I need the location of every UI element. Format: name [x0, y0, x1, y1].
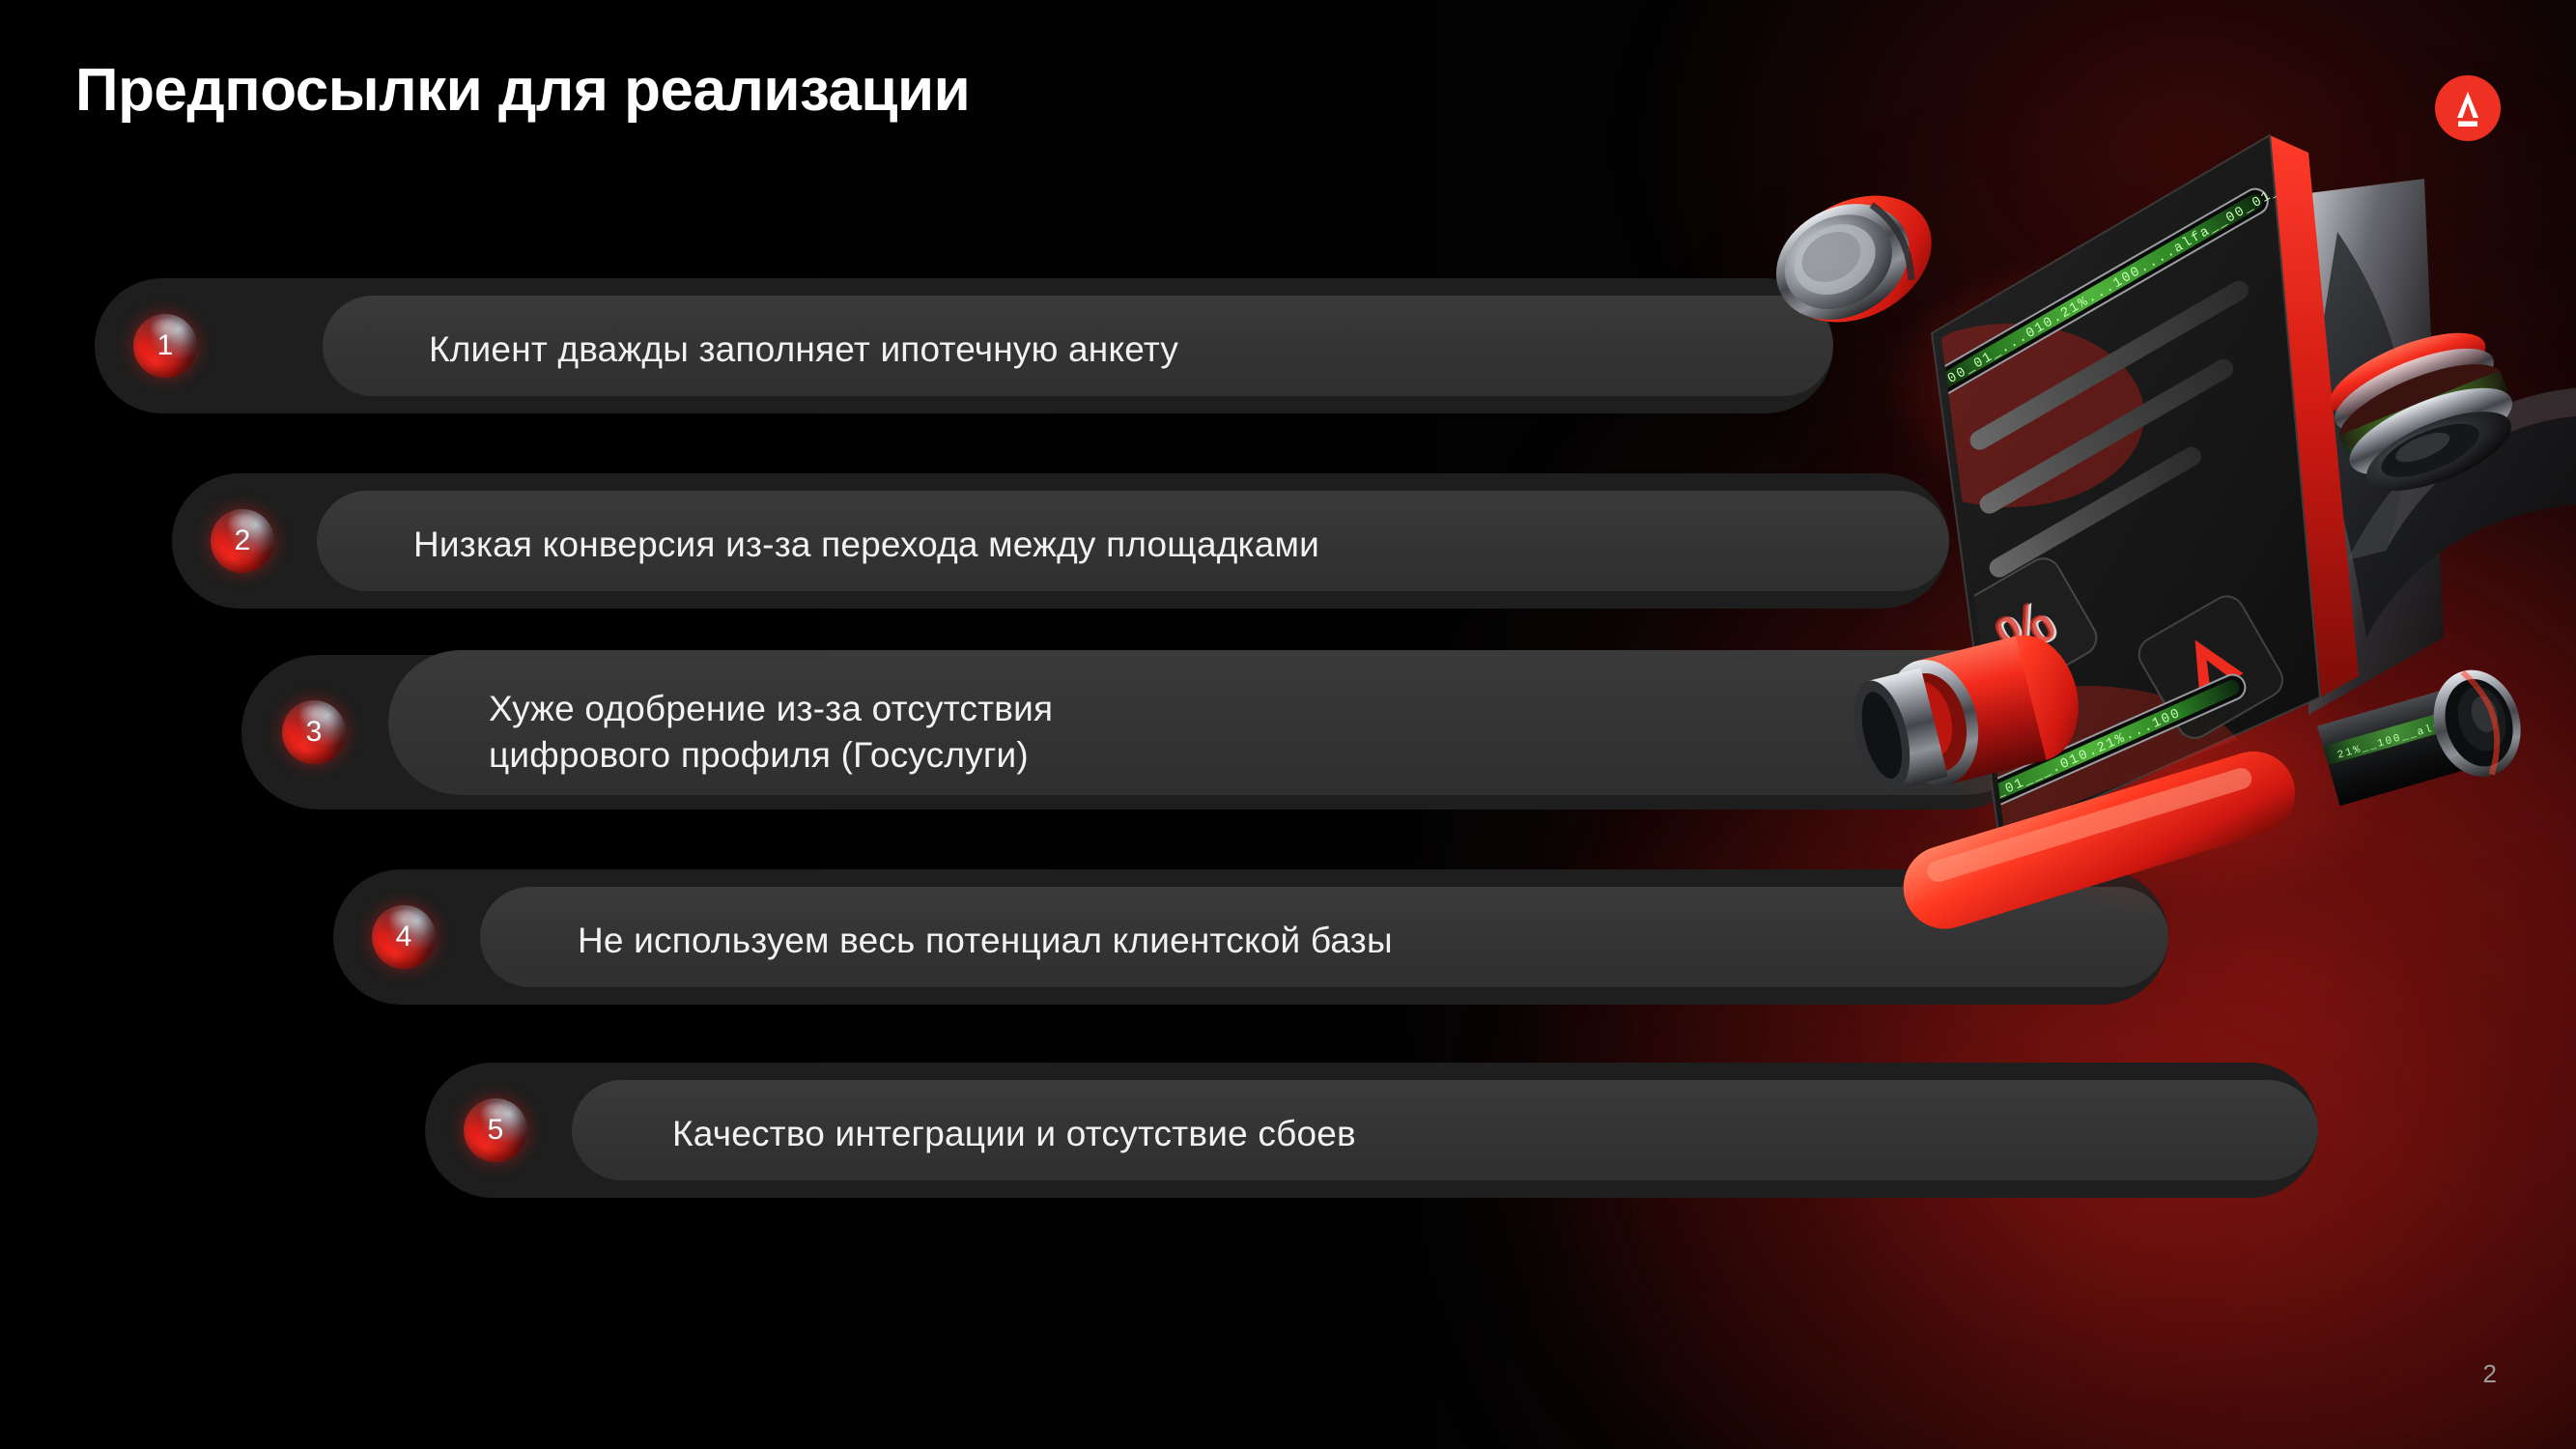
list-item-text: Хуже одобрение из-за отсутствия цифровог…	[489, 686, 1841, 779]
list-item-number: 2	[235, 526, 251, 555]
alfa-bank-logo-icon	[2435, 75, 2501, 141]
list-item-text: Качество интеграции и отсутствие сбоев	[672, 1111, 2121, 1157]
list-item-number-badge: 5	[464, 1098, 527, 1162]
list-item-number: 5	[488, 1116, 504, 1145]
list-item-number-badge: 3	[282, 700, 346, 764]
list-item-text: Низкая конверсия из-за перехода между пл…	[413, 522, 1882, 568]
list-item-text: Не используем весь потенциал клиентской …	[578, 918, 2104, 964]
premise-list: 1 Клиент дважды заполняет ипотечную анке…	[0, 0, 2576, 1449]
page-title: Предпосылки для реализации	[75, 56, 970, 125]
list-item-number: 1	[157, 331, 174, 360]
slide-root: Предпосылки для реализации	[0, 0, 2576, 1449]
list-item-number-badge: 1	[133, 314, 197, 378]
page-number: 2	[2483, 1359, 2497, 1389]
list-item-text: Клиент дважды заполняет ипотечную анкету	[429, 327, 1781, 373]
list-item-number: 4	[396, 923, 412, 952]
list-item-number-badge: 2	[211, 509, 274, 573]
list-item-number-badge: 4	[372, 905, 436, 969]
list-item-number: 3	[306, 718, 323, 747]
